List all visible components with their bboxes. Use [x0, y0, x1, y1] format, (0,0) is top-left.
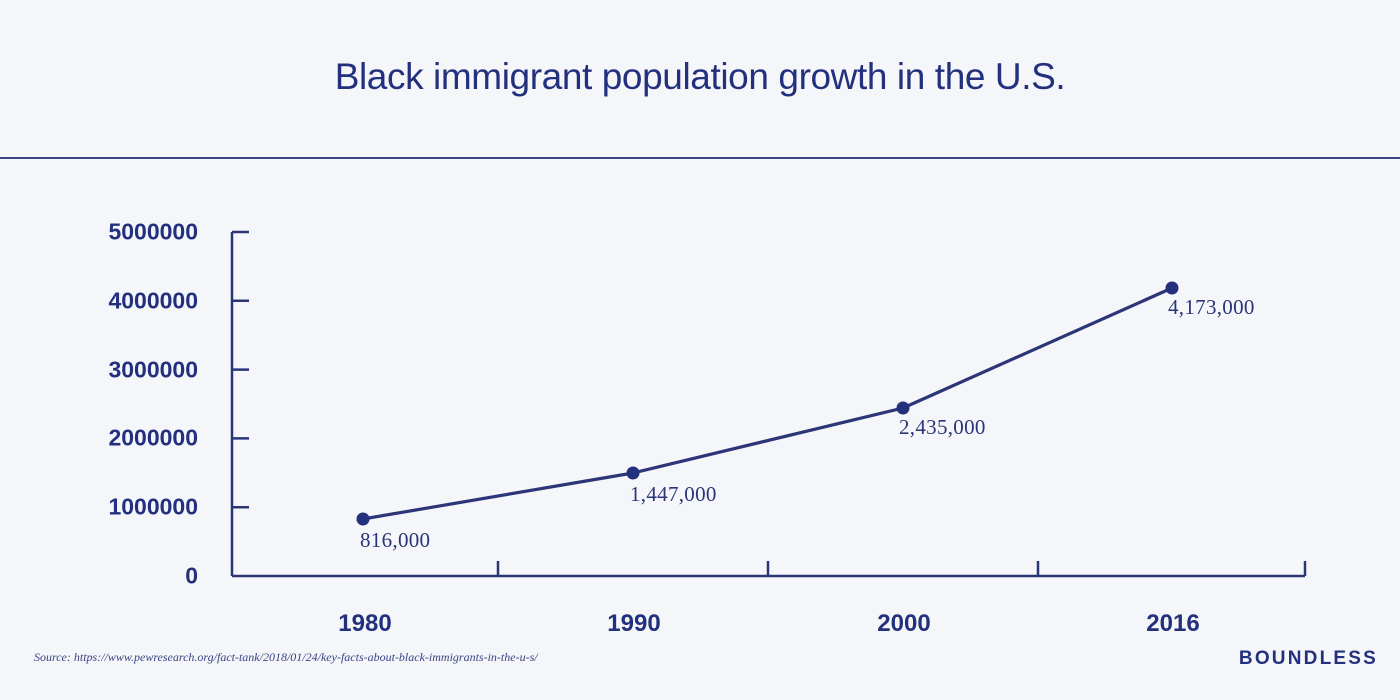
- y-tick-label-1000000: 1000000: [0, 496, 198, 519]
- x-tick-label-1980: 1980: [265, 610, 465, 638]
- y-tick-label-4000000: 4000000: [0, 289, 198, 312]
- x-tick-label-1990: 1990: [534, 610, 734, 638]
- boundless-logo: BOUNDLESS: [1239, 648, 1378, 670]
- line-chart: [0, 0, 1400, 700]
- x-axis-ticks: [498, 561, 1305, 576]
- data-point-label-2000: 2,435,000: [899, 415, 986, 440]
- y-axis-ticks: [232, 232, 249, 507]
- chart-page: Black immigrant population growth in the…: [0, 0, 1400, 700]
- data-point-label-1990: 1,447,000: [630, 482, 717, 507]
- data-point-label-2016: 4,173,000: [1168, 295, 1255, 320]
- data-point-marker: [357, 513, 370, 526]
- data-line: [363, 288, 1172, 519]
- data-point-label-1980: 816,000: [360, 528, 430, 553]
- y-tick-label-0: 0: [0, 565, 198, 588]
- y-tick-label-5000000: 5000000: [0, 221, 198, 244]
- data-point-markers: [357, 282, 1179, 526]
- data-point-marker: [897, 402, 910, 415]
- y-tick-label-3000000: 3000000: [0, 358, 198, 381]
- x-tick-label-2000: 2000: [804, 610, 1004, 638]
- data-point-marker: [1166, 282, 1179, 295]
- x-tick-label-2016: 2016: [1073, 610, 1273, 638]
- y-tick-label-2000000: 2000000: [0, 427, 198, 450]
- data-point-marker: [627, 467, 640, 480]
- source-citation: Source: https://www.pewresearch.org/fact…: [34, 650, 538, 665]
